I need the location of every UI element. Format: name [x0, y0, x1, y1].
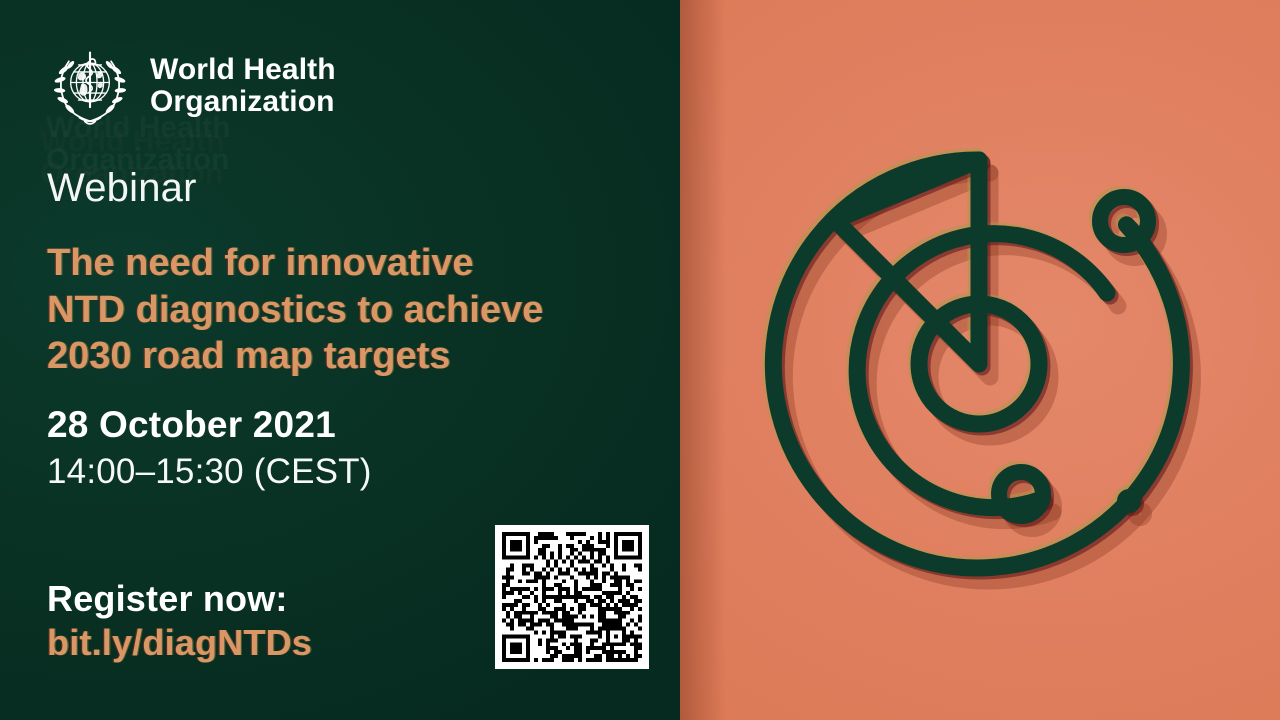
who-wordmark: World Health Organization [150, 54, 336, 119]
right-panel [680, 0, 1280, 720]
qr-code-canvas [502, 532, 642, 662]
event-time: 14:00–15:30 (CEST) [47, 452, 372, 492]
qr-code[interactable] [495, 525, 649, 669]
page-title: The need for innovative NTD diagnostics … [47, 240, 647, 380]
register-label: Register now: [47, 578, 288, 620]
event-date: 28 October 2021 [47, 404, 336, 446]
webinar-poster: World Health Organization World Health O… [0, 0, 1280, 720]
who-emblem-icon [46, 42, 134, 130]
webinar-kicker: Webinar [47, 166, 197, 211]
who-logo: World Health Organization [46, 42, 336, 130]
register-link[interactable]: bit.ly/diagNTDs [47, 622, 312, 664]
